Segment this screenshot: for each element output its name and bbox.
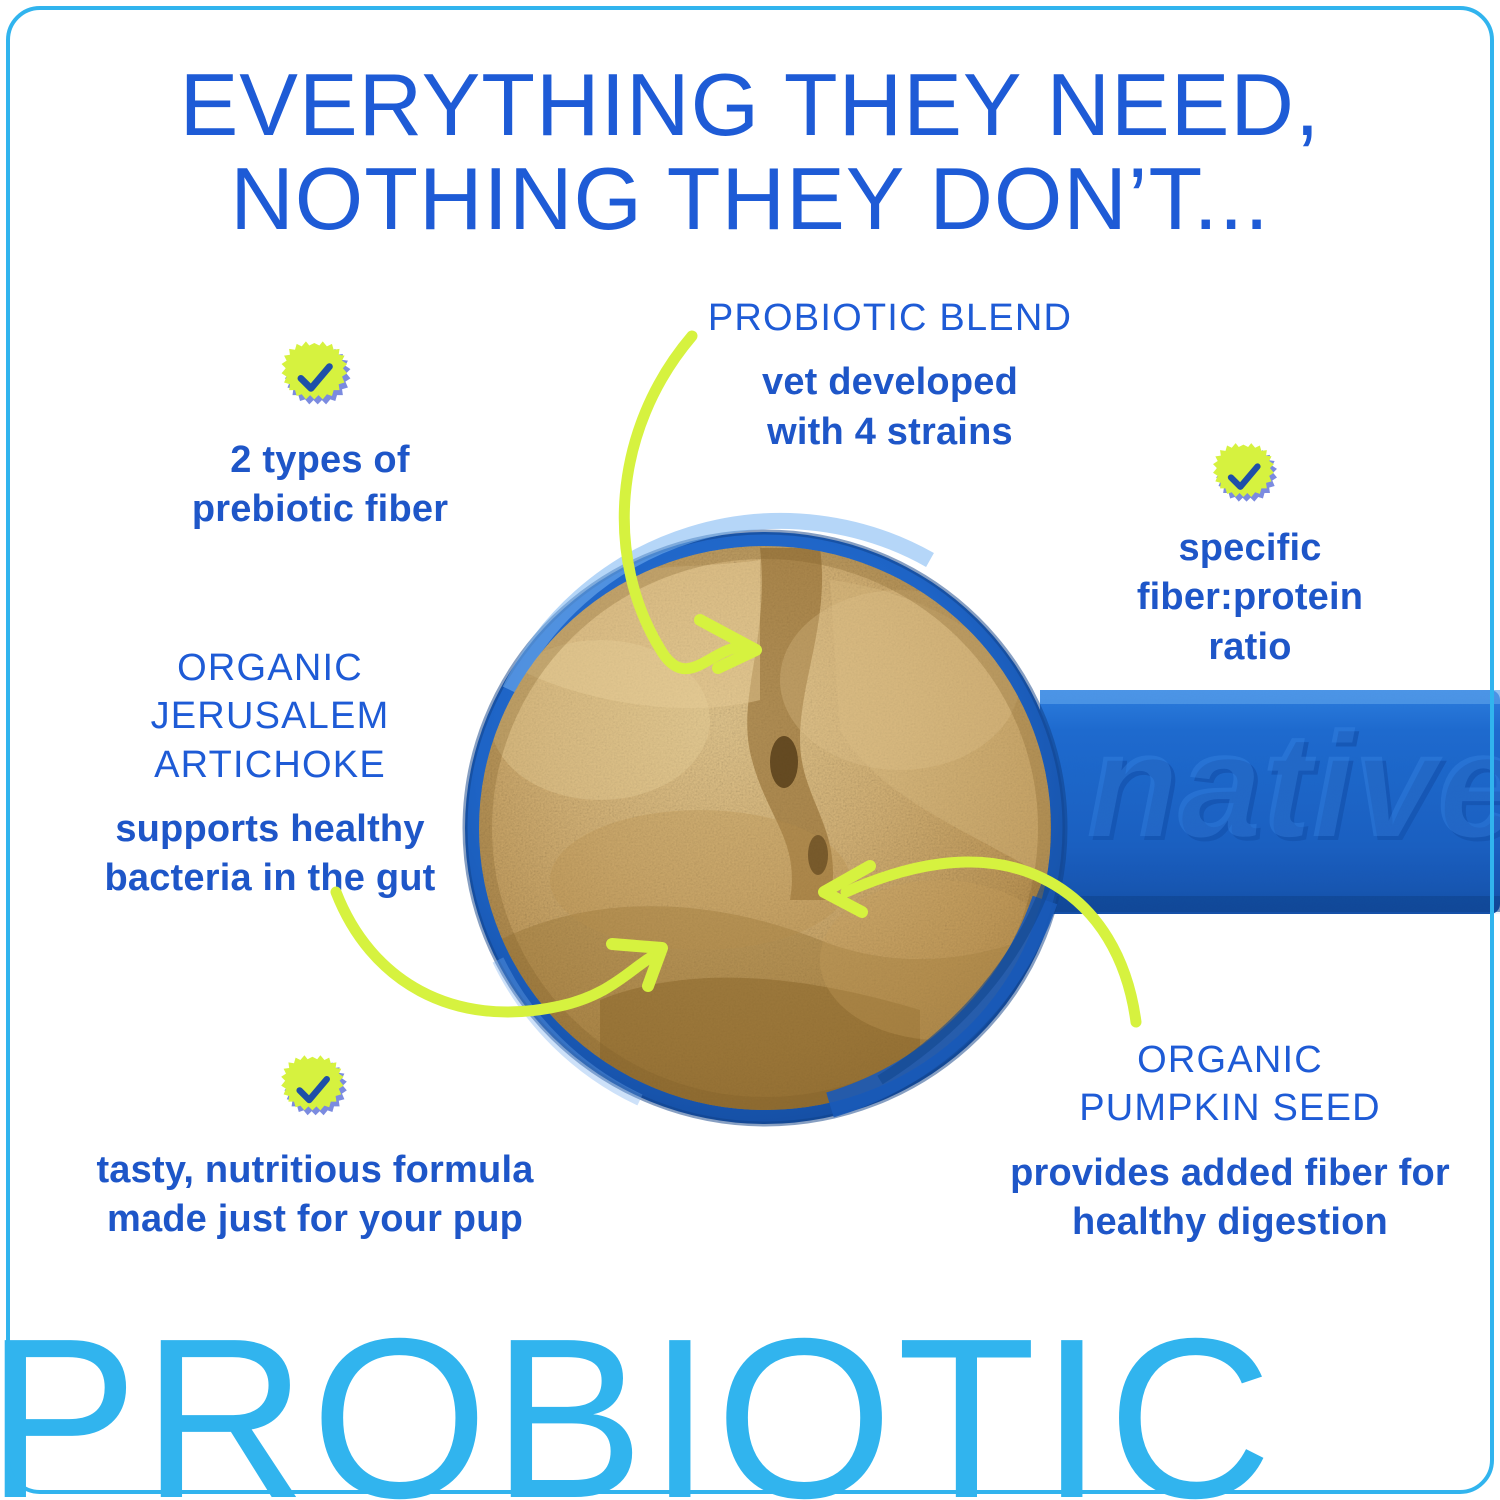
callout-jerusalem-artichoke-line-1: supports healthy	[60, 805, 480, 854]
infographic-canvas: nativep nativep	[0, 0, 1500, 1500]
callout-pumpkin-seed-title-2: PUMPKIN SEED	[1000, 1084, 1460, 1132]
headline-line-1: EVERYTHING THEY NEED,	[180, 55, 1321, 154]
check-badge-tasty-formula	[274, 1052, 354, 1132]
check-badge-prebiotic-fiber	[274, 338, 358, 422]
headline-line-2: NOTHING THEY DON’T...	[0, 152, 1500, 246]
callout-probiotic-blend-line-2: with 4 strains	[650, 408, 1130, 457]
callout-pumpkin-seed-line-1: provides added fiber for	[1000, 1149, 1460, 1198]
callout-jerusalem-artichoke-title-1: ORGANIC	[60, 644, 480, 692]
callout-tasty-formula-line-1: tasty, nutritious formula	[60, 1146, 570, 1195]
callout-prebiotic-fiber: 2 types of prebiotic fiber	[130, 436, 510, 535]
callout-probiotic-blend: PROBIOTIC BLEND vet developed with 4 str…	[650, 294, 1130, 457]
callout-pumpkin-seed-line-2: healthy digestion	[1000, 1198, 1460, 1247]
callout-fiber-protein-ratio-line-3: ratio	[1080, 623, 1420, 672]
check-badge-fiber-protein-ratio	[1206, 440, 1284, 518]
callout-probiotic-blend-line-1: vet developed	[650, 358, 1130, 407]
callout-prebiotic-fiber-line-1: 2 types of	[130, 436, 510, 485]
callout-tasty-formula: tasty, nutritious formula made just for …	[60, 1146, 570, 1245]
callout-fiber-protein-ratio: specific fiber:protein ratio	[1080, 524, 1420, 672]
footer-wordmark: PROBIOTIC	[0, 1305, 1276, 1500]
callout-prebiotic-fiber-line-2: prebiotic fiber	[130, 485, 510, 534]
callout-pumpkin-seed: ORGANIC PUMPKIN SEED provides added fibe…	[1000, 1036, 1460, 1247]
callout-jerusalem-artichoke-title-3: ARTICHOKE	[60, 741, 480, 789]
callout-probiotic-blend-title: PROBIOTIC BLEND	[650, 294, 1130, 342]
callout-jerusalem-artichoke: ORGANIC JERUSALEM ARTICHOKE supports hea…	[60, 644, 480, 904]
scoop-handle: nativep nativep	[1030, 690, 1500, 914]
callout-pumpkin-seed-title-1: ORGANIC	[1000, 1036, 1460, 1084]
callout-tasty-formula-line-2: made just for your pup	[60, 1195, 570, 1244]
callout-fiber-protein-ratio-line-2: fiber:protein	[1080, 573, 1420, 622]
callout-jerusalem-artichoke-title-2: JERUSALEM	[60, 692, 480, 740]
callout-jerusalem-artichoke-line-2: bacteria in the gut	[60, 854, 480, 903]
callout-fiber-protein-ratio-line-1: specific	[1080, 524, 1420, 573]
page-title: EVERYTHING THEY NEED, NOTHING THEY DON’T…	[0, 58, 1500, 246]
